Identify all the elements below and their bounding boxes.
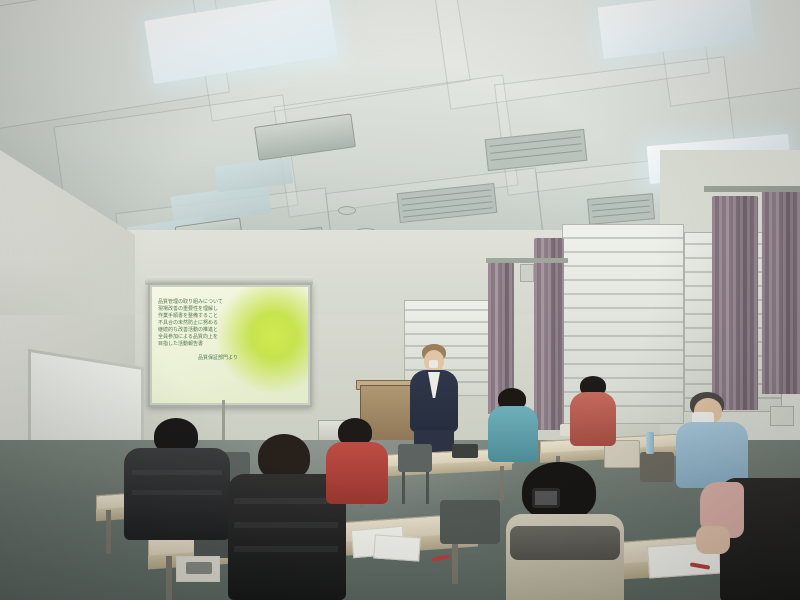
photo-scene: 品質管理の取り組みについて 現場改善の重要性を理解し 作業手順書を整備すること … [0, 0, 800, 600]
smartphone[interactable] [186, 562, 212, 574]
chair-leg [402, 472, 405, 504]
coat-seam [234, 498, 338, 504]
sweater-red [326, 442, 388, 504]
paper-handout-center-2[interactable] [373, 534, 421, 561]
bag-dark[interactable] [452, 444, 478, 458]
scarf-collar [510, 526, 620, 560]
curtain-rail-center [486, 258, 568, 263]
slide-text: 品質管理の取り組みについて 現場改善の重要性を理解し 作業手順書を整備すること … [158, 299, 270, 362]
fleece-teal [488, 406, 538, 462]
hand [696, 526, 730, 554]
jacket-seam [132, 470, 222, 475]
jacket-seam [132, 490, 222, 495]
table-leg [452, 538, 458, 584]
coat-seam [234, 522, 338, 528]
table-leg [500, 466, 504, 500]
curtain-far-right [712, 196, 758, 410]
projected-slide: 品質管理の取り組みについて 現場改善の重要性を理解し 作業手順書を整備すること … [152, 287, 308, 403]
projection-screen: 品質管理の取り組みについて 現場改善の重要性を理解し 作業手順書を整備すること … [148, 283, 312, 407]
chair-leg [426, 472, 429, 504]
chair[interactable] [440, 500, 500, 544]
water-bottle[interactable] [646, 432, 654, 454]
curtain-edge-right [762, 188, 800, 394]
chair[interactable] [640, 452, 674, 482]
wall-switch-plate[interactable] [520, 264, 534, 282]
curtain-right [534, 238, 564, 430]
chair[interactable] [398, 444, 432, 472]
jacket-salmon [570, 392, 616, 446]
wall-outlet-right[interactable] [770, 406, 794, 426]
coat-seam [234, 546, 338, 552]
table-leg [106, 510, 111, 554]
microphone [429, 360, 438, 368]
table-leg [166, 556, 172, 600]
glasses [532, 488, 560, 508]
curtain-rail-right [704, 186, 800, 192]
smoke-detector-left [338, 206, 356, 215]
